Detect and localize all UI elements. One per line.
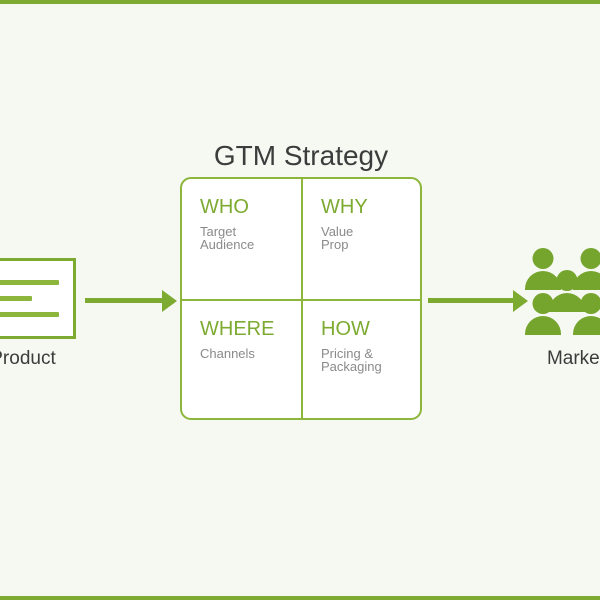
quadrant-how-title: HOW [321, 319, 420, 340]
document-line-2 [0, 296, 32, 301]
quadrant-how[interactable]: HOW Pricing & Packaging [301, 299, 420, 419]
quadrant-why-title: WHY [321, 197, 420, 218]
arrow-shaft [85, 298, 163, 303]
quadrant-where[interactable]: WHERE Channels [182, 299, 301, 419]
quadrant-why-subtitle: Value Prop [321, 225, 420, 252]
quadrant-who[interactable]: WHO Target Audience [182, 179, 301, 299]
arrow-strategy-to-market-icon [428, 290, 528, 312]
quadrant-where-title: WHERE [200, 319, 301, 340]
quadrant-why[interactable]: WHY Value Prop [301, 179, 420, 299]
document-line-3 [0, 312, 59, 317]
product-label: Product [0, 348, 76, 370]
person-head [533, 293, 554, 314]
top-accent-rule [0, 0, 600, 4]
person-head [581, 293, 600, 314]
person-icon [572, 293, 600, 333]
quadrant-who-title: WHO [200, 197, 301, 218]
person-head [557, 270, 578, 291]
document-line-1 [0, 280, 59, 285]
arrow-product-to-strategy-icon [85, 290, 177, 312]
person-head [533, 248, 554, 269]
arrow-shaft [428, 298, 514, 303]
quadrant-where-subtitle: Channels [200, 347, 301, 360]
document-lines-icon [0, 261, 73, 336]
person-head [581, 248, 600, 269]
person-body [525, 316, 561, 335]
product-node [0, 258, 76, 339]
arrow-head [162, 290, 177, 312]
market-label: Market [524, 348, 600, 370]
person-body [573, 316, 600, 335]
quadrant-how-subtitle: Pricing & Packaging [321, 347, 420, 374]
gtm-strategy-diagram: Product GTM Strategy WHO Target Audience… [0, 0, 600, 600]
person-icon [524, 293, 562, 333]
quadrant-who-subtitle: Target Audience [200, 225, 301, 252]
bottom-accent-rule [0, 596, 600, 600]
people-group-icon [524, 248, 600, 336]
strategy-matrix: WHO Target Audience WHY Value Prop WHERE… [180, 177, 422, 420]
strategy-title: GTM Strategy [180, 140, 422, 172]
